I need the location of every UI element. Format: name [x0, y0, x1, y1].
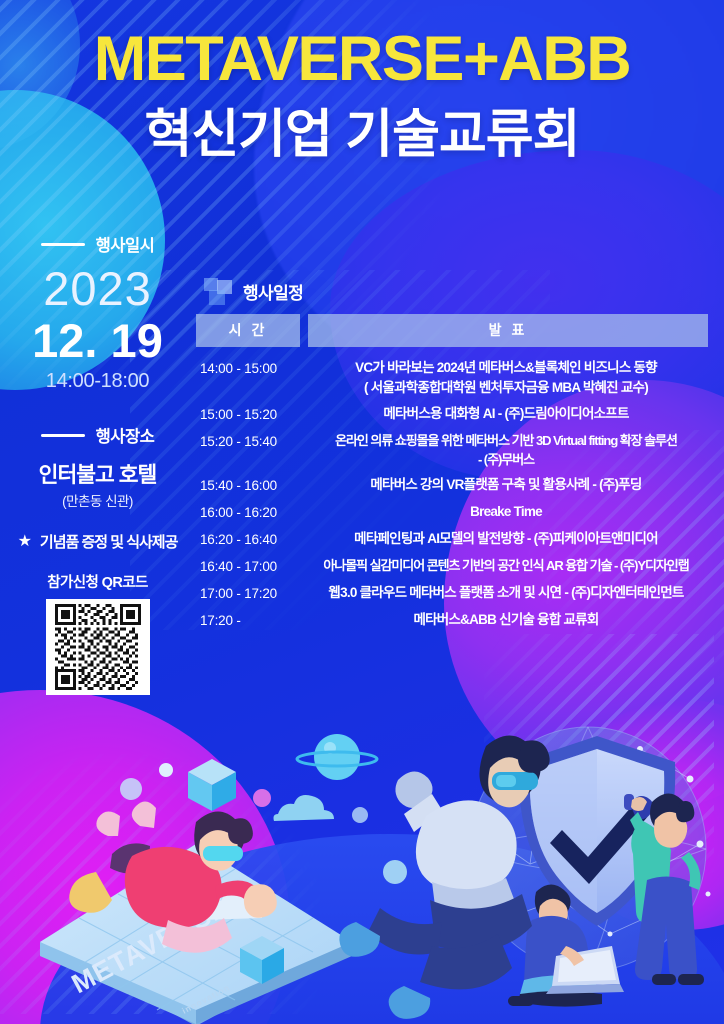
row-talk: 온라인 의류 쇼핑몰을 위한 메타버스 기반 3D Virtual fittin… [304, 431, 708, 470]
row-time: 15:00 - 15:20 [196, 404, 304, 422]
table-row: 15:40 - 16:00 메타버스 강의 VR플랫폼 구축 및 활용사례 - … [196, 475, 708, 500]
schedule-header: 행사일정 [196, 278, 708, 305]
row-talk-main: Breake Time [470, 504, 542, 519]
schedule-table-header: 시 간 발 표 [196, 314, 708, 347]
venue-block: 행사장소 인터불고 호텔 (만촌동 신관) [0, 423, 195, 510]
pixel-square-icon [204, 278, 232, 305]
table-row: 16:40 - 17:00 아나몰픽 실감미디어 콘텐츠 기반의 공간 인식 A… [196, 556, 708, 581]
row-talk-main: 메타페인팅과 AI모델의 발전방향 - (주)피케이아트앤미디어 [354, 531, 658, 546]
event-year: 2023 [0, 265, 195, 312]
vr-headset-icon [203, 846, 243, 861]
row-talk: 메타버스용 대화형 AI - (주)드림아이디어소프트 [304, 404, 708, 424]
row-talk-main: 웹3.0 클라우드 메타버스 플랫폼 소개 및 시연 - (주)디자엔터테인먼트 [328, 585, 683, 600]
row-talk-main: 메타버스용 대화형 AI - (주)드림아이디어소프트 [383, 406, 628, 421]
divider-line [41, 243, 85, 246]
table-row: 14:00 - 15:00 VC가 바라보는 2024년 메타버스&블록체인 비… [196, 358, 708, 399]
perk-row: ★ 기념품 증정 및 식사제공 [0, 531, 195, 552]
perk-text: 기념품 증정 및 식사제공 [40, 531, 178, 552]
column-header-talk: 발 표 [308, 314, 708, 347]
row-time: 16:00 - 16:20 [196, 502, 304, 520]
schedule-panel: 행사일정 시 간 발 표 14:00 - 15:00 VC가 바라보는 2024… [196, 278, 708, 637]
qr-label: 참가신청 QR코드 [0, 571, 195, 592]
row-talk-main: 메타버스&ABB 신기술 융합 교류회 [413, 612, 598, 627]
star-icon: ★ [18, 534, 32, 550]
row-talk-main: 메타버스 강의 VR플랫폼 구축 및 활용사례 - (주)푸딩 [370, 477, 641, 492]
venue-label: 행사장소 [96, 423, 155, 447]
qr-code-svg [51, 604, 145, 690]
table-row: 16:20 - 16:40 메타페인팅과 AI모델의 발전방향 - (주)피케이… [196, 529, 708, 554]
table-row: 15:20 - 15:40 온라인 의류 쇼핑몰을 위한 메타버스 기반 3D … [196, 431, 708, 470]
row-talk: 메타페인팅과 AI모델의 발전방향 - (주)피케이아트앤미디어 [304, 529, 708, 549]
table-row: 16:00 - 16:20 Breake Time [196, 502, 708, 527]
table-row: 17:00 - 17:20 웹3.0 클라우드 메타버스 플랫폼 소개 및 시연… [196, 583, 708, 608]
column-header-time: 시 간 [196, 314, 300, 347]
schedule-title: 행사일정 [243, 279, 303, 304]
divider-line [41, 434, 85, 437]
row-time: 16:20 - 16:40 [196, 529, 304, 547]
venue-subtext: (만촌동 신관) [0, 490, 195, 510]
qr-code-icon[interactable] [46, 599, 150, 695]
row-talk-main: 아나몰픽 실감미디어 콘텐츠 기반의 공간 인식 AR 융합 기술 - (주)Y… [323, 558, 688, 573]
row-time: 14:00 - 15:00 [196, 358, 304, 376]
row-time: 15:20 - 15:40 [196, 431, 304, 449]
row-time: 17:00 - 17:20 [196, 583, 304, 601]
title-korean: 혁신기업 기술교류회 [0, 107, 724, 163]
schedule-rows: 14:00 - 15:00 VC가 바라보는 2024년 메타버스&블록체인 비… [196, 358, 708, 635]
illustration-svg: METAVERSE innovation [0, 694, 724, 1024]
event-info-panel: 행사일시 2023 12. 19 14:00-18:00 행사장소 인터불고 호… [0, 232, 195, 695]
row-time: 15:40 - 16:00 [196, 475, 304, 493]
table-row: 17:20 - 메타버스&ABB 신기술 융합 교류회 [196, 610, 708, 635]
date-label: 행사일시 [96, 232, 155, 256]
row-talk: 아나몰픽 실감미디어 콘텐츠 기반의 공간 인식 AR 융합 기술 - (주)Y… [304, 556, 708, 576]
row-talk: Breake Time [304, 502, 708, 522]
table-row: 15:00 - 15:20 메타버스용 대화형 AI - (주)드림아이디어소프… [196, 404, 708, 429]
poster-header: METAVERSE+ABB 혁신기업 기술교류회 [0, 0, 724, 163]
title-english: METAVERSE+ABB [0, 27, 724, 91]
cube-icon [188, 759, 236, 811]
cloud-icon [274, 795, 335, 821]
row-talk: VC가 바라보는 2024년 메타버스&블록체인 비즈니스 동향 ( 서울과학종… [304, 358, 708, 399]
poster-root: METAVERSE+ABB 혁신기업 기술교류회 행사일시 2023 12. 1… [0, 0, 724, 1024]
date-label-row: 행사일시 [0, 232, 195, 256]
row-time: 17:20 - [196, 610, 304, 628]
row-talk-main: 온라인 의류 쇼핑몰을 위한 메타버스 기반 3D Virtual fittin… [335, 433, 677, 448]
bottom-illustration: METAVERSE innovation [0, 694, 724, 1024]
venue-name: 인터불고 호텔 [0, 458, 195, 489]
row-talk: 메타버스 강의 VR플랫폼 구축 및 활용사례 - (주)푸딩 [304, 475, 708, 495]
event-day: 12. 19 [0, 316, 195, 365]
planet-icon [297, 734, 377, 780]
venue-label-row: 행사장소 [0, 423, 195, 447]
row-talk-sub: ( 서울과학종합대학원 벤처투자금융 MBA 박혜진 교수) [304, 378, 708, 398]
row-talk-main: VC가 바라보는 2024년 메타버스&블록체인 비즈니스 동향 [355, 360, 657, 375]
row-talk: 웹3.0 클라우드 메타버스 플랫폼 소개 및 시연 - (주)디자엔터테인먼트 [304, 583, 708, 603]
row-talk-sub: - (주)무버스 [304, 450, 708, 470]
row-talk: 메타버스&ABB 신기술 융합 교류회 [304, 610, 708, 630]
row-time: 16:40 - 17:00 [196, 556, 304, 574]
event-time-range: 14:00-18:00 [0, 370, 195, 393]
